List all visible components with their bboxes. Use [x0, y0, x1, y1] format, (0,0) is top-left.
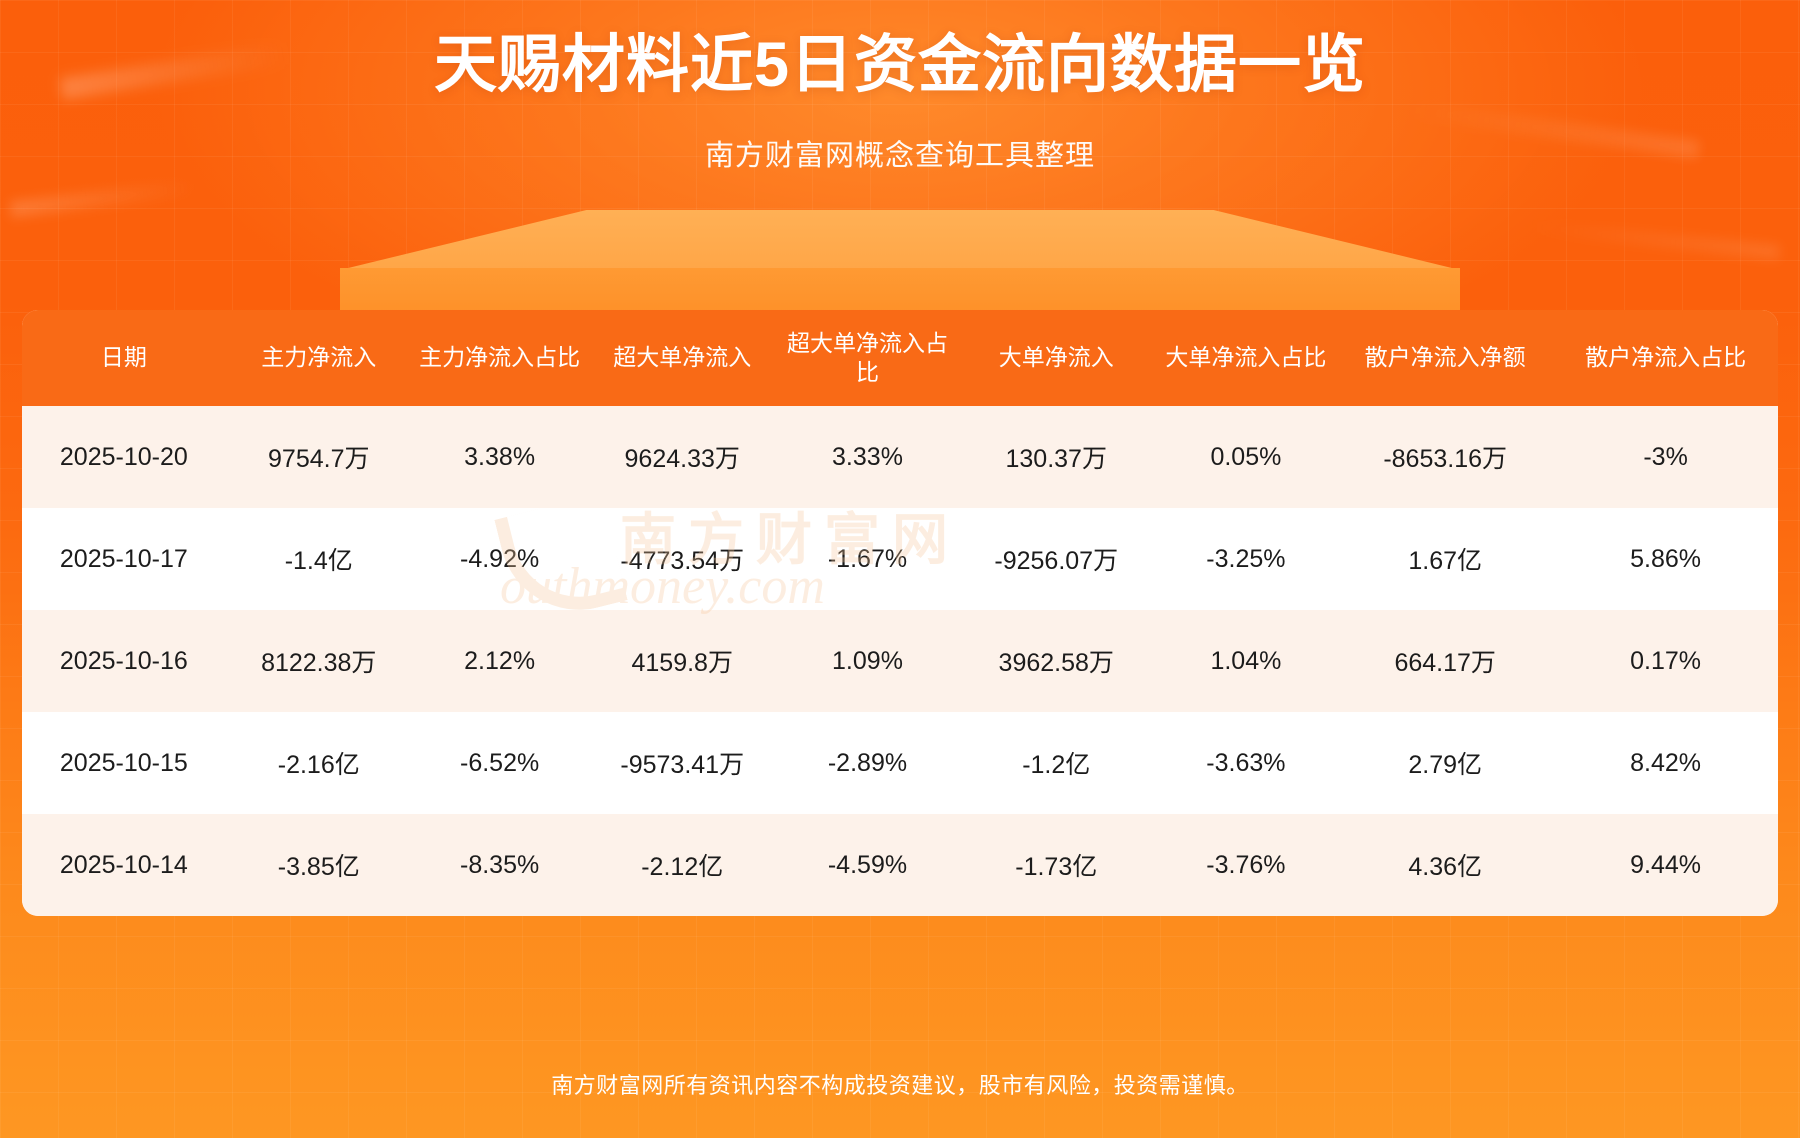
cell-lg-pct: 1.04%: [1155, 610, 1338, 712]
cell-date: 2025-10-17: [22, 508, 226, 610]
page-title: 天赐材料近5日资金流向数据一览: [0, 28, 1800, 102]
cell-xl-net: -4773.54万: [587, 508, 777, 610]
cell-retail-net: 664.17万: [1337, 610, 1553, 712]
cell-date: 2025-10-15: [22, 712, 226, 814]
column-header-xl-pct: 超大单净流入占比: [777, 310, 958, 406]
cell-retail-net: 4.36亿: [1337, 814, 1553, 916]
cell-xl-pct: -2.89%: [777, 712, 958, 814]
cell-xl-net: -9573.41万: [587, 712, 777, 814]
table-row: 2025-10-15 -2.16亿 -6.52% -9573.41万 -2.89…: [22, 712, 1778, 814]
column-header-lg-pct: 大单净流入占比: [1155, 310, 1338, 406]
column-header-retail-net: 散户净流入净额: [1337, 310, 1553, 406]
table-row: 2025-10-14 -3.85亿 -8.35% -2.12亿 -4.59% -…: [22, 814, 1778, 916]
cell-main-pct: -6.52%: [412, 712, 588, 814]
cell-xl-pct: -1.67%: [777, 508, 958, 610]
cell-main-net: -3.85亿: [226, 814, 412, 916]
page-subtitle: 南方财富网概念查询工具整理: [0, 132, 1800, 174]
cell-retail-net: 2.79亿: [1337, 712, 1553, 814]
cell-main-net: 9754.7万: [226, 406, 412, 508]
column-header-retail-pct: 散户净流入占比: [1553, 310, 1778, 406]
cell-lg-net: -9256.07万: [958, 508, 1155, 610]
cell-main-pct: -4.92%: [412, 508, 588, 610]
cell-retail-pct: 8.42%: [1553, 712, 1778, 814]
cell-date: 2025-10-16: [22, 610, 226, 712]
table-body: 2025-10-20 9754.7万 3.38% 9624.33万 3.33% …: [22, 406, 1778, 916]
cell-lg-pct: -3.76%: [1155, 814, 1338, 916]
cell-lg-net: 130.37万: [958, 406, 1155, 508]
cell-retail-pct: -3%: [1553, 406, 1778, 508]
column-header-lg-net: 大单净流入: [958, 310, 1155, 406]
table-row: 2025-10-20 9754.7万 3.38% 9624.33万 3.33% …: [22, 406, 1778, 508]
cell-xl-net: 9624.33万: [587, 406, 777, 508]
cell-xl-net: 4159.8万: [587, 610, 777, 712]
cell-main-net: -1.4亿: [226, 508, 412, 610]
cell-xl-pct: -4.59%: [777, 814, 958, 916]
cell-retail-pct: 5.86%: [1553, 508, 1778, 610]
cell-main-net: 8122.38万: [226, 610, 412, 712]
fund-flow-table: 日期 主力净流入 主力净流入占比 超大单净流入 超大单净流入占比 大单净流入 大…: [22, 310, 1778, 916]
cell-lg-net: 3962.58万: [958, 610, 1155, 712]
podium-block: [340, 210, 1460, 270]
cell-main-pct: 3.38%: [412, 406, 588, 508]
cell-lg-pct: 0.05%: [1155, 406, 1338, 508]
cell-main-pct: -8.35%: [412, 814, 588, 916]
header-block: 天赐材料近5日资金流向数据一览 南方财富网概念查询工具整理: [0, 28, 1800, 174]
cell-lg-net: -1.2亿: [958, 712, 1155, 814]
table-header-row: 日期 主力净流入 主力净流入占比 超大单净流入 超大单净流入占比 大单净流入 大…: [22, 310, 1778, 406]
cell-xl-pct: 1.09%: [777, 610, 958, 712]
cell-main-net: -2.16亿: [226, 712, 412, 814]
column-header-main-net: 主力净流入: [226, 310, 412, 406]
cell-retail-net: -8653.16万: [1337, 406, 1553, 508]
cell-lg-net: -1.73亿: [958, 814, 1155, 916]
column-header-date: 日期: [22, 310, 226, 406]
cell-retail-pct: 9.44%: [1553, 814, 1778, 916]
data-table-card: 日期 主力净流入 主力净流入占比 超大单净流入 超大单净流入占比 大单净流入 大…: [22, 310, 1778, 916]
cell-date: 2025-10-20: [22, 406, 226, 508]
table-header: 日期 主力净流入 主力净流入占比 超大单净流入 超大单净流入占比 大单净流入 大…: [22, 310, 1778, 406]
cell-xl-net: -2.12亿: [587, 814, 777, 916]
table-row: 2025-10-17 -1.4亿 -4.92% -4773.54万 -1.67%…: [22, 508, 1778, 610]
cell-retail-net: 1.67亿: [1337, 508, 1553, 610]
cell-retail-pct: 0.17%: [1553, 610, 1778, 712]
cell-xl-pct: 3.33%: [777, 406, 958, 508]
disclaimer-footer: 南方财富网所有资讯内容不构成投资建议，股市有风险，投资需谨慎。: [0, 1068, 1800, 1100]
column-header-xl-net: 超大单净流入: [587, 310, 777, 406]
table-row: 2025-10-16 8122.38万 2.12% 4159.8万 1.09% …: [22, 610, 1778, 712]
cell-lg-pct: -3.25%: [1155, 508, 1338, 610]
column-header-main-pct: 主力净流入占比: [412, 310, 588, 406]
cell-date: 2025-10-14: [22, 814, 226, 916]
cell-lg-pct: -3.63%: [1155, 712, 1338, 814]
cell-main-pct: 2.12%: [412, 610, 588, 712]
